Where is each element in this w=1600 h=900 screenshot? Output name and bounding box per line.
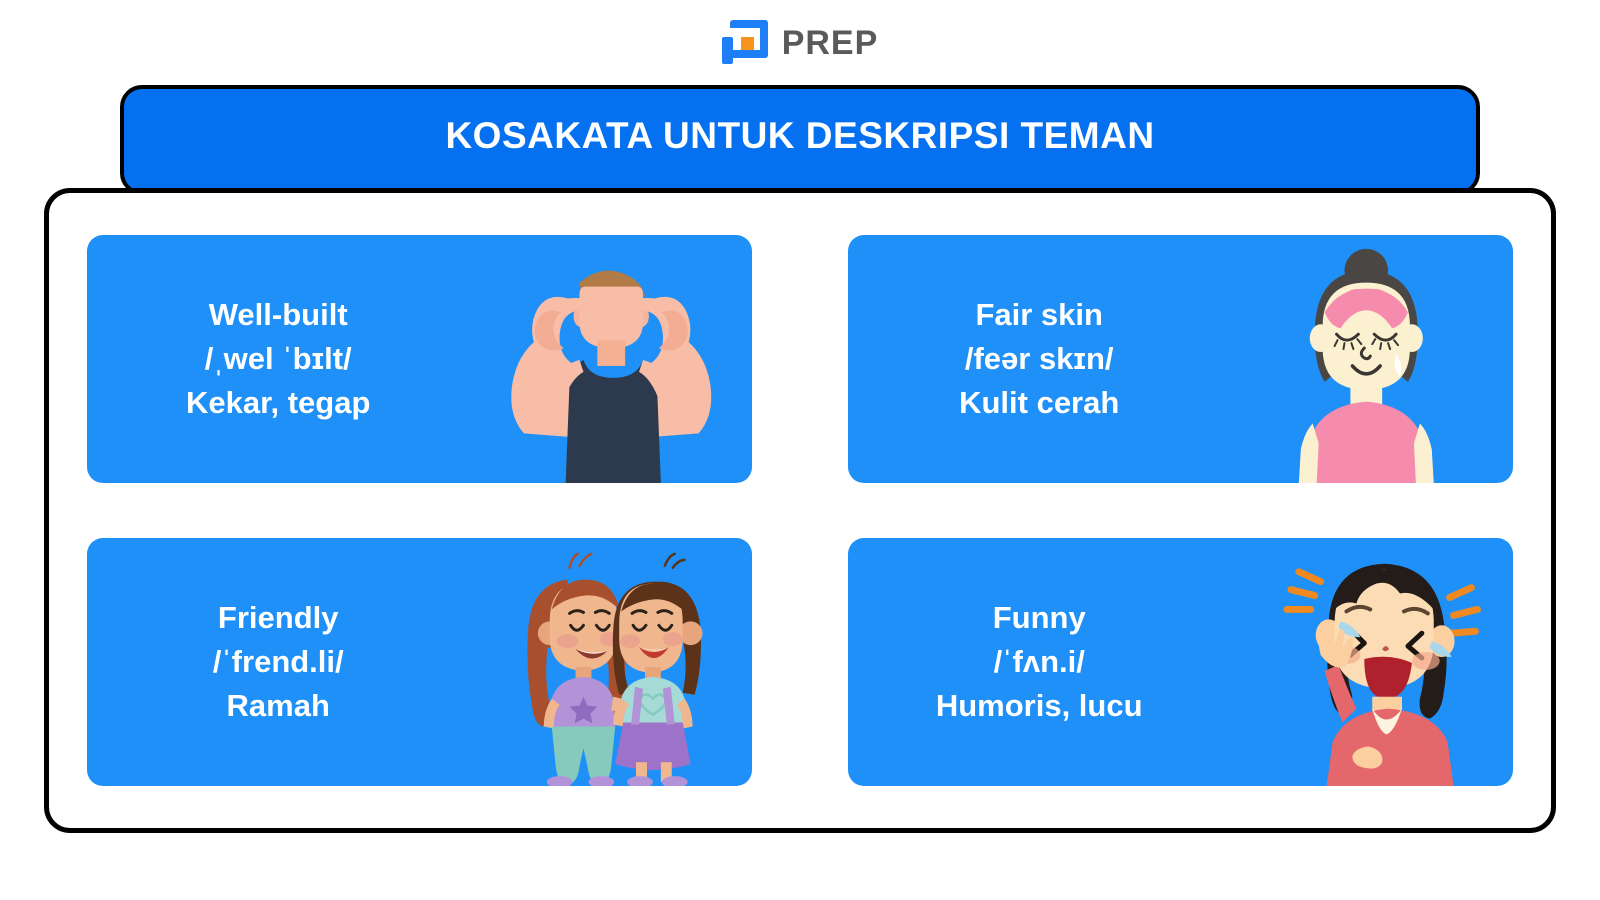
vocabulary-grid: Well-built /ˌwel ˈbɪlt/ Kekar, tegap — [87, 235, 1513, 786]
brand-name: PREP — [782, 24, 879, 63]
vocab-card-text: Well-built /ˌwel ˈbɪlt/ Kekar, tegap — [87, 298, 459, 420]
prep-logo-icon — [722, 20, 768, 66]
vocab-meaning: Humoris, lucu — [936, 689, 1143, 723]
title-banner: KOSAKATA UNTUK DESKRIPSI TEMAN — [120, 85, 1480, 195]
woman-laughing-icon — [1220, 538, 1513, 786]
vocab-card-text: Funny /ˈfʌn.i/ Humoris, lucu — [848, 601, 1220, 723]
vocabulary-panel: Well-built /ˌwel ˈbɪlt/ Kekar, tegap — [44, 188, 1556, 833]
vocab-meaning: Kulit cerah — [959, 386, 1119, 420]
woman-fair-skin-icon — [1220, 235, 1513, 483]
vocab-card-funny[interactable]: Funny /ˈfʌn.i/ Humoris, lucu — [848, 538, 1513, 786]
vocab-ipa: /ˈfʌn.i/ — [994, 645, 1085, 679]
vocab-word: Funny — [993, 601, 1086, 635]
vocab-card-text: Friendly /ˈfrend.li/ Ramah — [87, 601, 459, 723]
vocab-card-well-built[interactable]: Well-built /ˌwel ˈbɪlt/ Kekar, tegap — [87, 235, 752, 483]
vocab-card-text: Fair skin /feər skɪn/ Kulit cerah — [848, 298, 1220, 420]
vocab-meaning: Ramah — [227, 689, 330, 723]
vocab-card-friendly[interactable]: Friendly /ˈfrend.li/ Ramah — [87, 538, 752, 786]
infographic-root: PREP PREP KOSAKATA UNTUK DESKRIPSI TEMAN… — [0, 0, 1600, 900]
vocab-word: Friendly — [218, 601, 339, 635]
muscular-man-flexing-icon — [459, 235, 752, 483]
vocab-ipa: /feər skɪn/ — [965, 342, 1114, 376]
vocab-card-fair-skin[interactable]: Fair skin /feər skɪn/ Kulit cerah — [848, 235, 1513, 483]
two-girls-hugging-icon — [459, 538, 752, 786]
vocab-ipa: /ˈfrend.li/ — [213, 645, 344, 679]
vocab-word: Fair skin — [975, 298, 1103, 332]
brand-header: PREP — [0, 14, 1600, 72]
vocab-ipa: /ˌwel ˈbɪlt/ — [205, 342, 352, 376]
page-title: KOSAKATA UNTUK DESKRIPSI TEMAN — [445, 115, 1154, 157]
vocab-word: Well-built — [209, 298, 348, 332]
vocab-meaning: Kekar, tegap — [186, 386, 370, 420]
